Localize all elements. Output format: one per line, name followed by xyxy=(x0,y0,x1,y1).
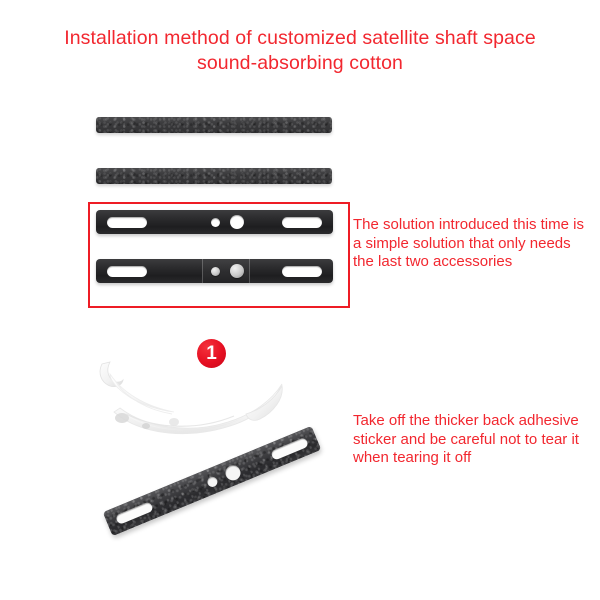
bracket-hole-large xyxy=(223,463,243,483)
bracket-hole-small xyxy=(211,218,220,227)
bracket-hole-large xyxy=(230,264,244,278)
adhesive-backed-bracket-wrapper xyxy=(99,432,325,532)
bracket-slot-right xyxy=(282,217,322,228)
product-instruction-image: Installation method of customized satell… xyxy=(0,0,600,600)
page-title: Installation method of customized satell… xyxy=(0,26,600,76)
bracket-hole-large xyxy=(230,215,244,229)
mounting-bracket-lower xyxy=(96,259,333,283)
sound-absorbing-cotton-strip-top xyxy=(96,117,332,133)
bracket-slot-left xyxy=(107,266,147,277)
callout-text-peel: Take off the thicker back adhesive stick… xyxy=(353,412,593,468)
sound-absorbing-cotton-strip-bottom xyxy=(96,168,332,184)
mounting-bracket-upper xyxy=(96,210,333,234)
bracket-hole-small xyxy=(206,475,219,488)
bracket-slot-right xyxy=(270,437,309,461)
callout-text-solution: The solution introduced this time is a s… xyxy=(353,216,593,272)
bracket-slot-left xyxy=(107,217,147,228)
bracket-hole-small xyxy=(211,267,220,276)
peeled-adhesive-backing xyxy=(96,352,301,444)
bracket-slot-left xyxy=(115,501,154,525)
bracket-slot-right xyxy=(282,266,322,277)
adhesive-backed-bracket xyxy=(103,426,322,537)
